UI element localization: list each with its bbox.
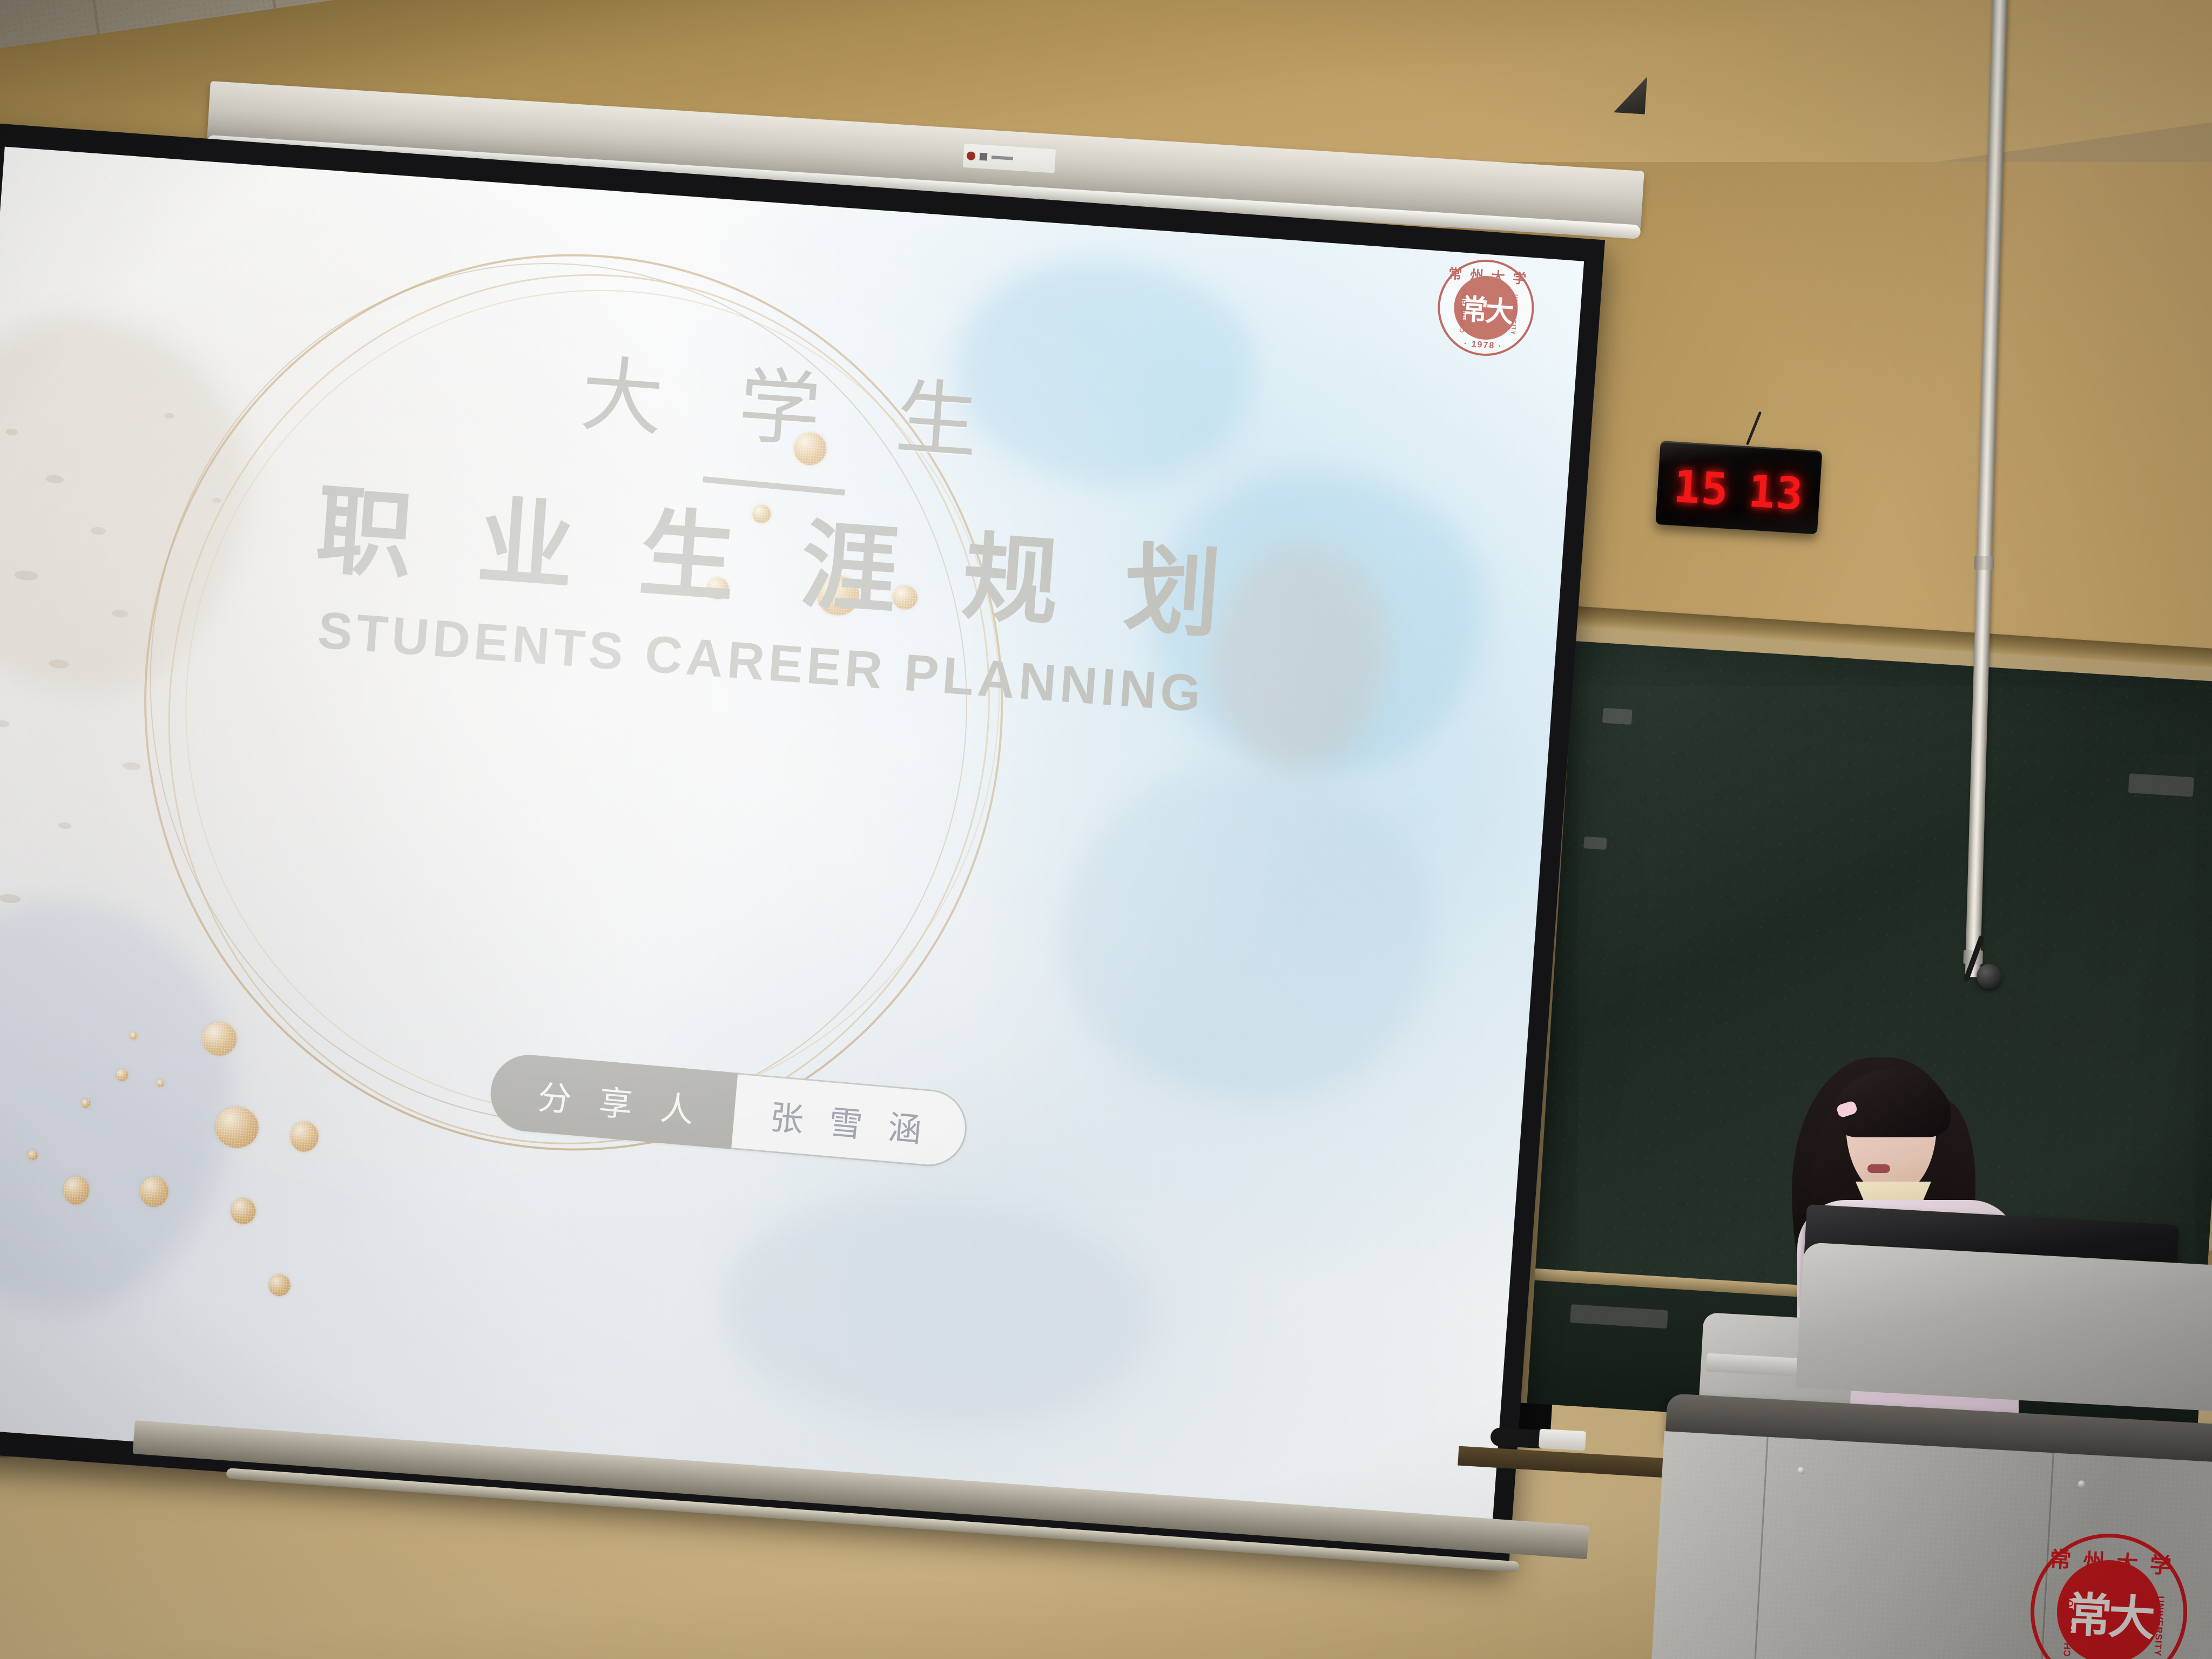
pipe-joint: [1974, 556, 1994, 570]
lectern-changzhou-logo: 常 州 大 学 常大 CHANGZHOU UNIVERSITY: [2026, 1529, 2191, 1659]
classroom-photo-scene: 15 13: [0, 0, 2212, 1659]
paper-speckle: [0, 894, 21, 904]
chalk-smudge: [1583, 837, 1607, 850]
microphone-icon: [1977, 964, 2001, 989]
clock-hours: 15: [1672, 464, 1730, 512]
changzhou-university-logo: 常 州 大 学 常大 CHANGZHOU UNIVERSITY · 1978 ·: [1434, 257, 1537, 359]
sticker-barcode-icon: [992, 156, 1013, 160]
lips: [1867, 1164, 1890, 1173]
title-divider: [703, 476, 845, 496]
white-connector: [1539, 1429, 1586, 1451]
paper-speckle: [58, 822, 72, 829]
digital-wall-clock: 15 13: [1655, 441, 1822, 535]
watercolor-wash-blue: [1047, 754, 1448, 1116]
roller-label-sticker: [963, 144, 1056, 173]
sticker-square-icon: [980, 153, 988, 161]
logo-year: · 1978 ·: [1437, 338, 1529, 354]
clock-minutes: 13: [1747, 469, 1805, 517]
gold-dot: [268, 1274, 291, 1297]
gold-dot: [230, 1197, 257, 1225]
chalk-smudge: [2128, 773, 2194, 797]
lectern-desktop: [1796, 1242, 2212, 1412]
paper-speckle: [0, 720, 10, 727]
chalk-smudge: [1570, 1304, 1668, 1328]
sticker-red-dot-icon: [967, 151, 976, 160]
presentation-slide: 常 州 大 学 常大 CHANGZHOU UNIVERSITY · 1978 ·…: [0, 147, 1584, 1540]
projection-screen: 常 州 大 学 常大 CHANGZHOU UNIVERSITY · 1978 ·…: [0, 122, 1605, 1565]
watercolor-wash-grey: [714, 1185, 1162, 1442]
chalk-smudge: [1602, 708, 1633, 725]
